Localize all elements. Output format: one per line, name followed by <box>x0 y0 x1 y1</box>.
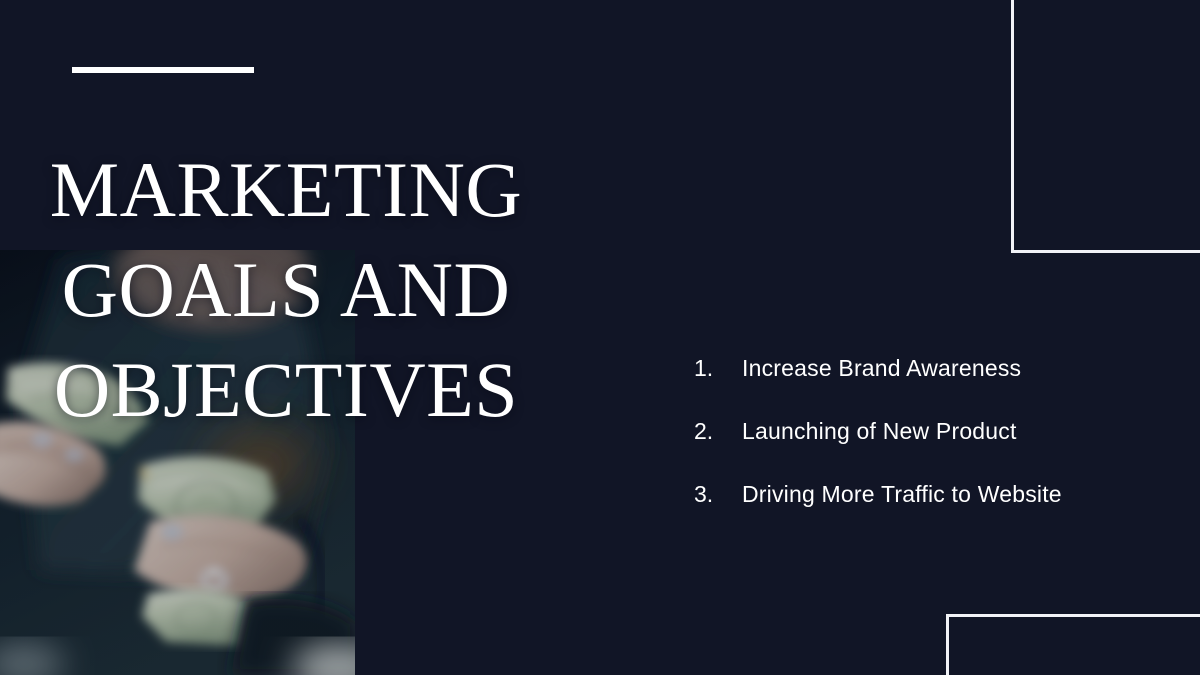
list-item: 1. Increase Brand Awareness <box>694 350 1114 387</box>
accent-rule <box>72 67 254 73</box>
list-item: 2. Launching of New Product <box>694 413 1114 450</box>
list-item-number: 1. <box>694 350 742 387</box>
list-item-label: Driving More Traffic to Website <box>742 476 1062 513</box>
list-item-label: Increase Brand Awareness <box>742 350 1021 387</box>
slide: Marketing Goals and Objectives 1. Increa… <box>0 0 1200 675</box>
list-item-number: 2. <box>694 413 742 450</box>
list-item-number: 3. <box>694 476 742 513</box>
list-item-label: Launching of New Product <box>742 413 1017 450</box>
page-title: Marketing Goals and Objectives <box>36 140 536 440</box>
corner-bracket-top-right <box>1011 0 1200 253</box>
corner-bracket-bottom-right <box>946 614 1200 675</box>
list-item: 3. Driving More Traffic to Website <box>694 476 1114 513</box>
goals-list: 1. Increase Brand Awareness 2. Launching… <box>694 350 1114 539</box>
